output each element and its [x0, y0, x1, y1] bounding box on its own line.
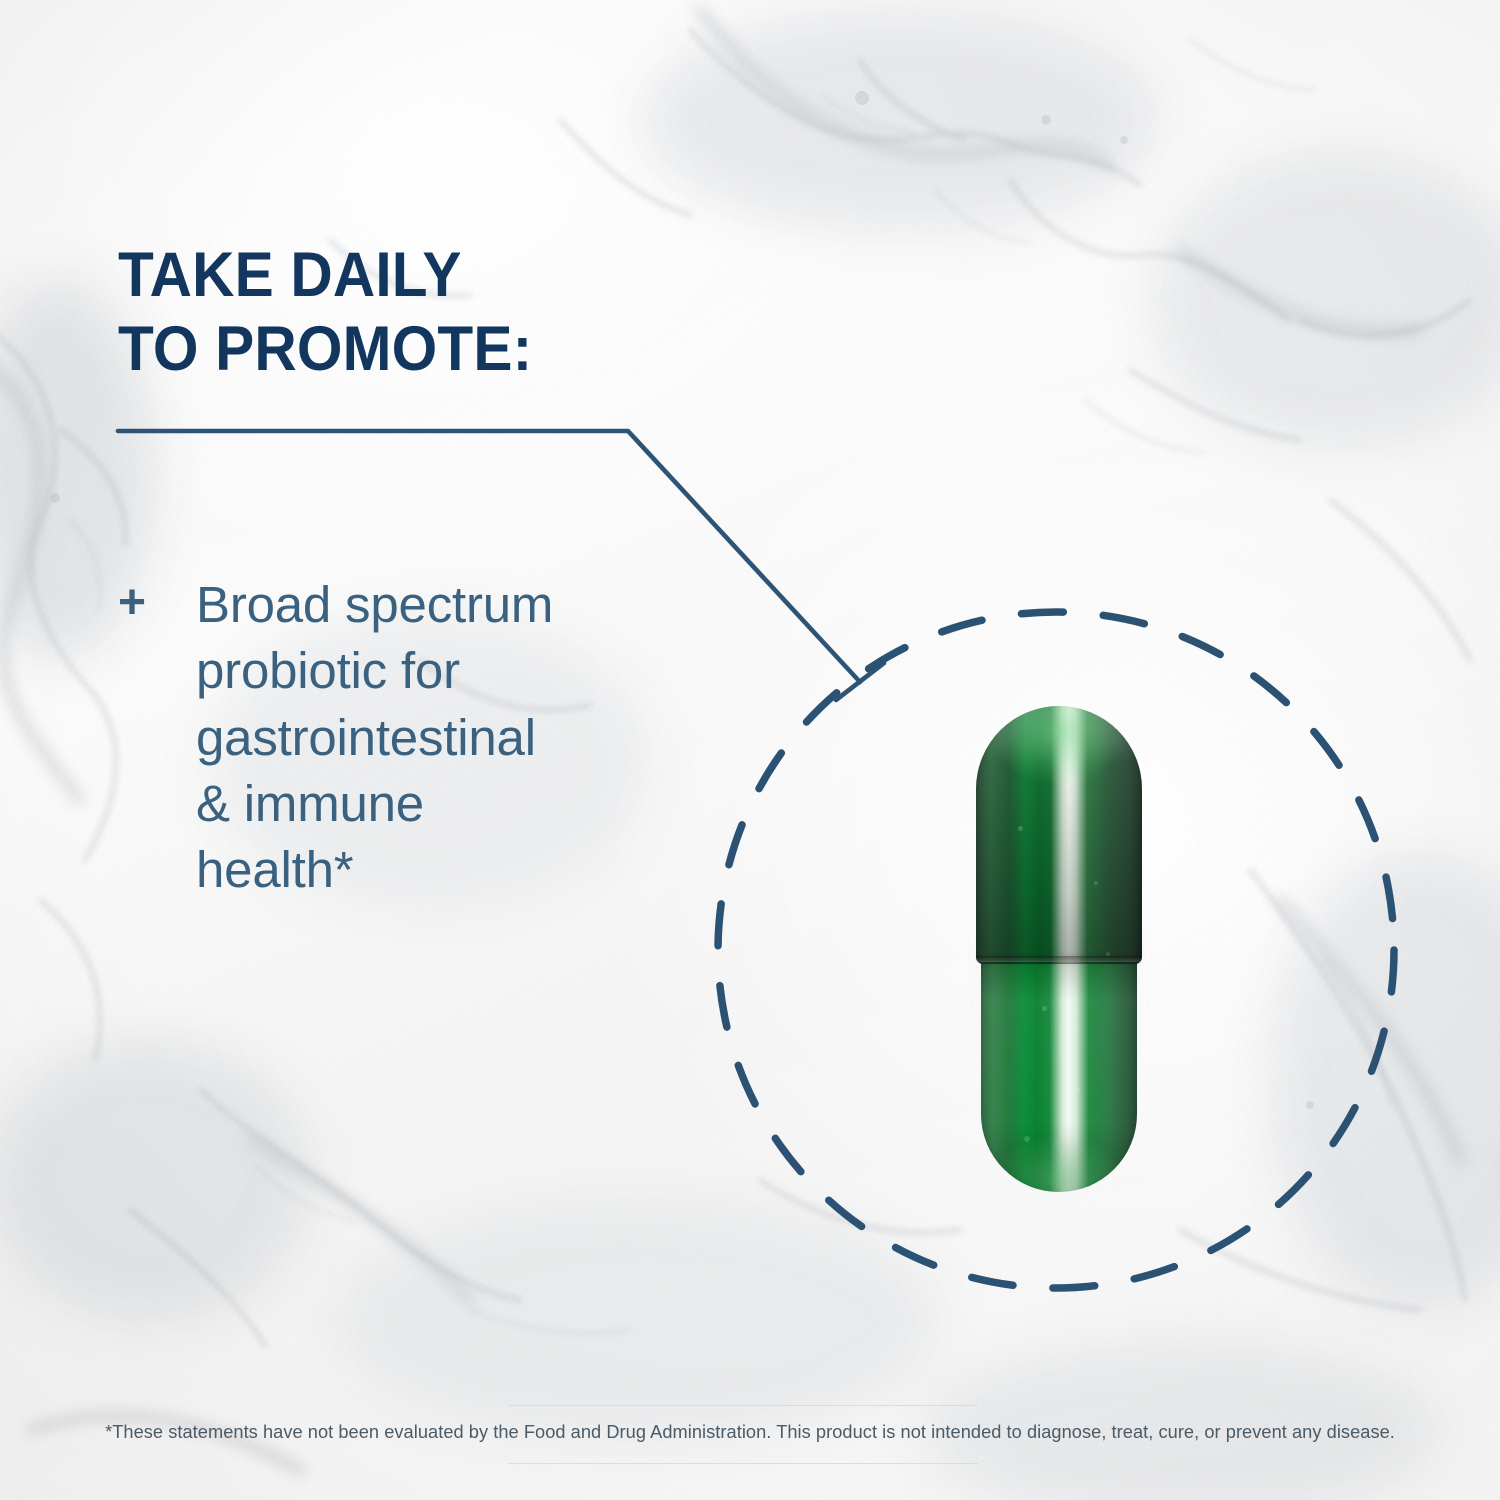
capsule-cap-gloss	[976, 706, 1142, 964]
capsule-seam	[976, 956, 1142, 962]
capsule-body-gloss	[981, 958, 1137, 1192]
disclaimer-text: *These statements have not been evaluate…	[11, 1421, 1489, 1443]
footer-divider-top	[508, 1405, 978, 1406]
page-title: TAKE DAILY TO PROMOTE:	[118, 238, 713, 387]
benefit-text: Broad spectrum probiotic for gastrointes…	[196, 572, 553, 903]
footer-divider-bottom	[508, 1463, 978, 1464]
product-infographic: TAKE DAILY TO PROMOTE: + Broad spectrum …	[0, 0, 1500, 1500]
green-capsule	[976, 706, 1142, 1192]
benefit-bullet: + Broad spectrum probiotic for gastroint…	[118, 572, 678, 903]
plus-icon: +	[118, 572, 196, 633]
